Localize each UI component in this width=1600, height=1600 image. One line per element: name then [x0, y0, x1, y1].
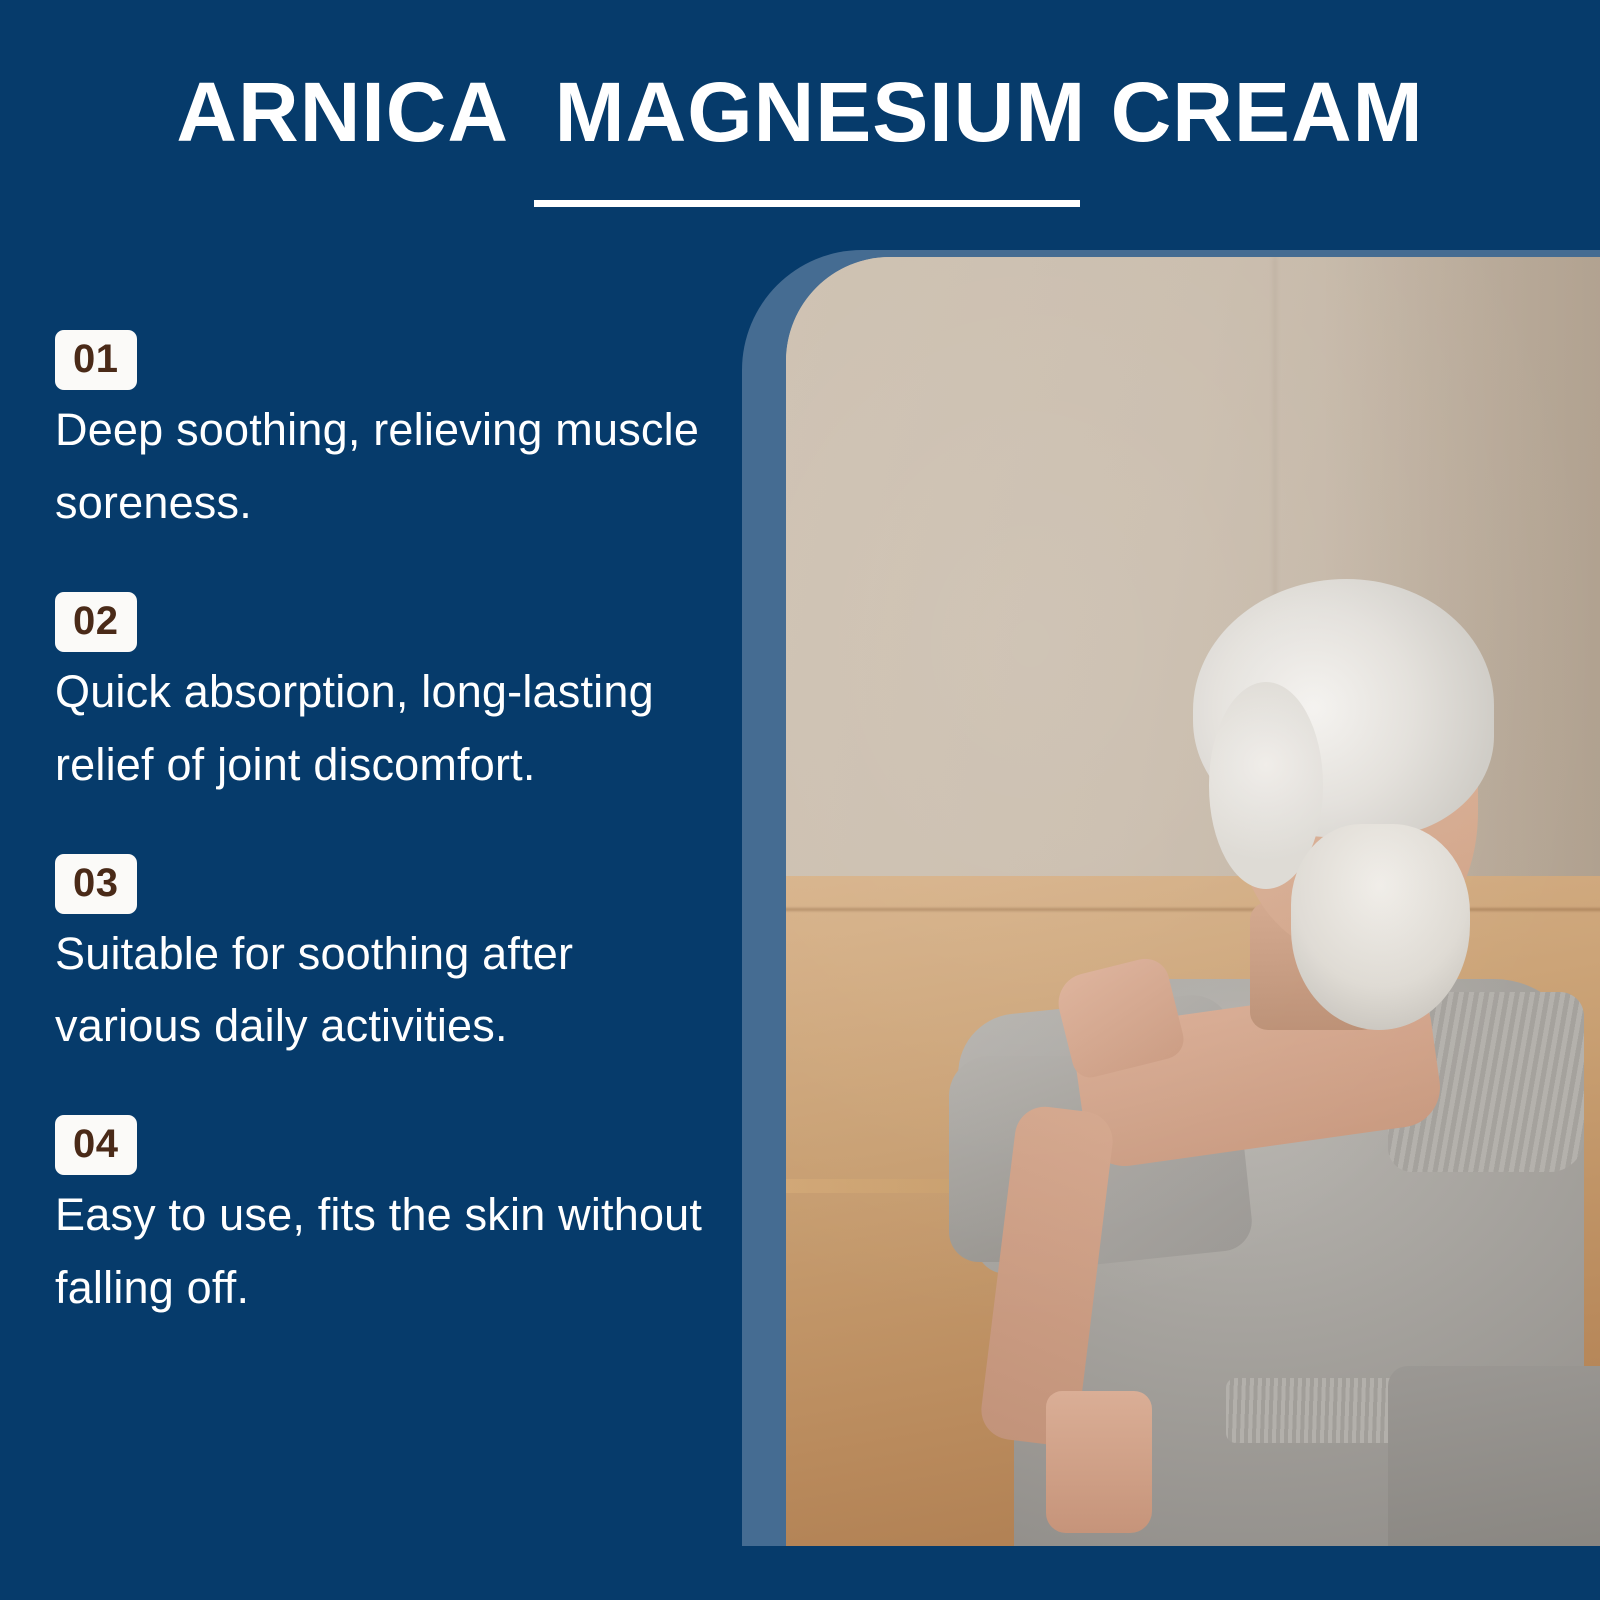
product-lifestyle-photo: [786, 257, 1600, 1546]
feature-text-04: Easy to use, fits the skin without falli…: [55, 1179, 715, 1325]
feature-item-02: 02 Quick absorption, long-lasting relief…: [55, 592, 715, 802]
feature-number-badge-02: 02: [55, 592, 137, 652]
feature-text-01: Deep soothing, relieving muscle soreness…: [55, 394, 715, 540]
feature-item-03: 03 Suitable for soothing after various d…: [55, 854, 715, 1064]
page-title-container: ARNICA MAGNESIUM CREAM: [0, 70, 1600, 156]
feature-number-badge-03: 03: [55, 854, 137, 914]
feature-list: 01 Deep soothing, relieving muscle soren…: [55, 330, 715, 1325]
photo-sofa-seam: [786, 908, 1600, 911]
title-underline-rule: [534, 200, 1080, 207]
product-infographic: ARNICA MAGNESIUM CREAM 01 Deep soothing,…: [0, 0, 1600, 1600]
photo-person-beard: [1291, 824, 1470, 1030]
photo-person-lower-hand: [1046, 1391, 1152, 1533]
feature-item-04: 04 Easy to use, fits the skin without fa…: [55, 1115, 715, 1325]
feature-item-01: 01 Deep soothing, relieving muscle soren…: [55, 330, 715, 540]
page-title: ARNICA MAGNESIUM CREAM: [176, 70, 1423, 156]
feature-number-badge-04: 04: [55, 1115, 137, 1175]
feature-number-badge-01: 01: [55, 330, 137, 390]
photo-person-trousers: [1388, 1366, 1600, 1546]
feature-text-02: Quick absorption, long-lasting relief of…: [55, 656, 715, 802]
feature-text-03: Suitable for soothing after various dail…: [55, 918, 715, 1064]
